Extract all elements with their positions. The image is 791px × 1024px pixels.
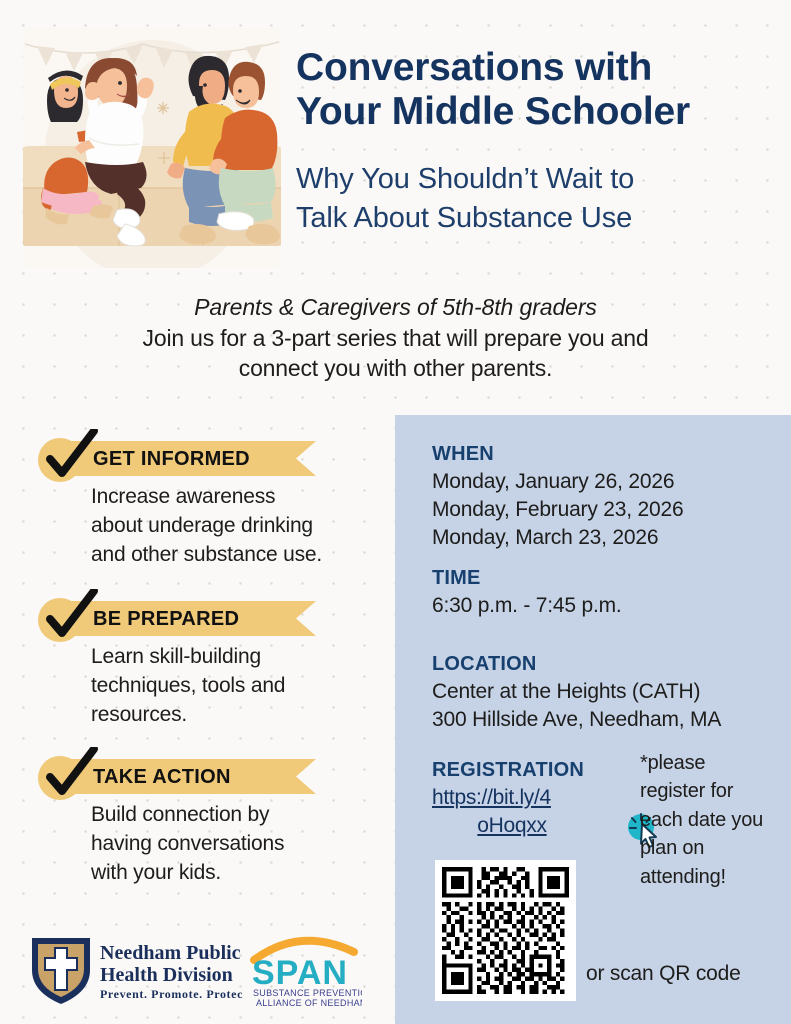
needham-public-health-division-logo: Needham Public Health Division Prevent. … <box>28 932 243 1008</box>
registration-section: REGISTRATION https://bit.ly/4 oHoqxx <box>432 759 592 839</box>
logo-row: Needham Public Health Division Prevent. … <box>28 932 358 1012</box>
intro-audience: Parents & Caregivers of 5th-8th graders <box>40 292 751 323</box>
qr-code-image[interactable] <box>435 860 576 1001</box>
span-wordmark: SPAN <box>252 954 348 992</box>
benefit-body-line-3: and other substance use. <box>91 541 381 570</box>
nphd-tagline: Prevent. Promote. Protect. <box>100 987 243 1001</box>
location-section: LOCATION Center at the Heights (CATH) 30… <box>432 653 721 734</box>
intro-block: Parents & Caregivers of 5th-8th graders … <box>40 292 751 384</box>
benefit-body-line-2: having conversations <box>91 830 381 859</box>
span-sub-line-2: ALLIANCE OF NEEDHAM <box>256 998 362 1008</box>
time-heading: TIME <box>432 567 622 590</box>
benefit-body-line-2: techniques, tools and <box>91 672 381 701</box>
page-title: Conversations with Your Middle Schooler <box>296 46 766 135</box>
benefit-item-take-action: TAKE ACTION Build connection by having c… <box>36 753 381 888</box>
nphd-line-2: Health Division <box>100 964 233 986</box>
flyer-page: Conversations with Your Middle Schooler … <box>0 0 791 1024</box>
title-line-1: Conversations with <box>296 46 766 90</box>
span-sub-line-1: SUBSTANCE PREVENTION <box>253 988 362 998</box>
page-subtitle: Why You Shouldn’t Wait to Talk About Sub… <box>296 160 766 237</box>
time-value: 6:30 p.m. - 7:45 p.m. <box>432 592 622 620</box>
benefit-body: Increase awareness about underage drinki… <box>91 483 381 570</box>
when-date-1: Monday, January 26, 2026 <box>432 468 683 496</box>
when-heading: WHEN <box>432 443 683 466</box>
benefit-body-line-1: Learn skill-building <box>91 643 381 672</box>
benefit-body-line-1: Build connection by <box>91 801 381 830</box>
registration-note: *please register for each date you plan … <box>640 749 765 891</box>
benefit-body: Learn skill-building techniques, tools a… <box>91 643 381 730</box>
registration-url-line-2[interactable]: oHoqxx <box>432 812 592 840</box>
benefit-body-line-3: resources. <box>91 701 381 730</box>
subtitle-line-1: Why You Shouldn’t Wait to <box>296 160 766 199</box>
when-date-2: Monday, February 23, 2026 <box>432 496 683 524</box>
scan-qr-label: or scan QR code <box>586 962 741 986</box>
when-date-3: Monday, March 23, 2026 <box>432 524 683 552</box>
benefit-body-line-2: about underage drinking <box>91 512 381 541</box>
registration-link[interactable]: https://bit.ly/4 oHoqxx <box>432 784 592 839</box>
location-line-1: Center at the Heights (CATH) <box>432 678 721 706</box>
nphd-line-1: Needham Public <box>100 942 241 964</box>
benefit-body-line-3: with your kids. <box>91 859 381 888</box>
benefit-body: Build connection by having conversations… <box>91 801 381 888</box>
benefit-banner: TAKE ACTION <box>36 753 381 797</box>
location-heading: LOCATION <box>432 653 721 676</box>
family-talking-on-couch-illustration <box>23 28 281 268</box>
location-line-2: 300 Hillside Ave, Needham, MA <box>432 706 721 734</box>
when-section: WHEN Monday, January 26, 2026 Monday, Fe… <box>432 443 683 552</box>
benefit-item-be-prepared: BE PREPARED Learn skill-building techniq… <box>36 595 381 730</box>
intro-line-1: Join us for a 3-part series that will pr… <box>40 323 751 354</box>
benefit-banner: BE PREPARED <box>36 595 381 639</box>
benefit-label: GET INFORMED <box>93 448 250 471</box>
intro-line-2: connect you with other parents. <box>40 353 751 384</box>
registration-url-line-1[interactable]: https://bit.ly/4 <box>432 786 551 809</box>
event-info-panel: WHEN Monday, January 26, 2026 Monday, Fe… <box>395 415 791 1024</box>
title-line-2: Your Middle Schooler <box>296 90 766 134</box>
benefit-item-get-informed: GET INFORMED Increase awareness about un… <box>36 435 381 570</box>
span-logo: SPAN SUBSTANCE PREVENTION ALLIANCE OF NE… <box>250 934 362 1008</box>
registration-heading: REGISTRATION <box>432 759 592 782</box>
benefit-label: BE PREPARED <box>93 608 239 631</box>
benefit-label: TAKE ACTION <box>93 766 231 789</box>
time-section: TIME 6:30 p.m. - 7:45 p.m. <box>432 567 622 620</box>
subtitle-line-2: Talk About Substance Use <box>296 199 766 238</box>
benefit-body-line-1: Increase awareness <box>91 483 381 512</box>
benefit-banner: GET INFORMED <box>36 435 381 479</box>
